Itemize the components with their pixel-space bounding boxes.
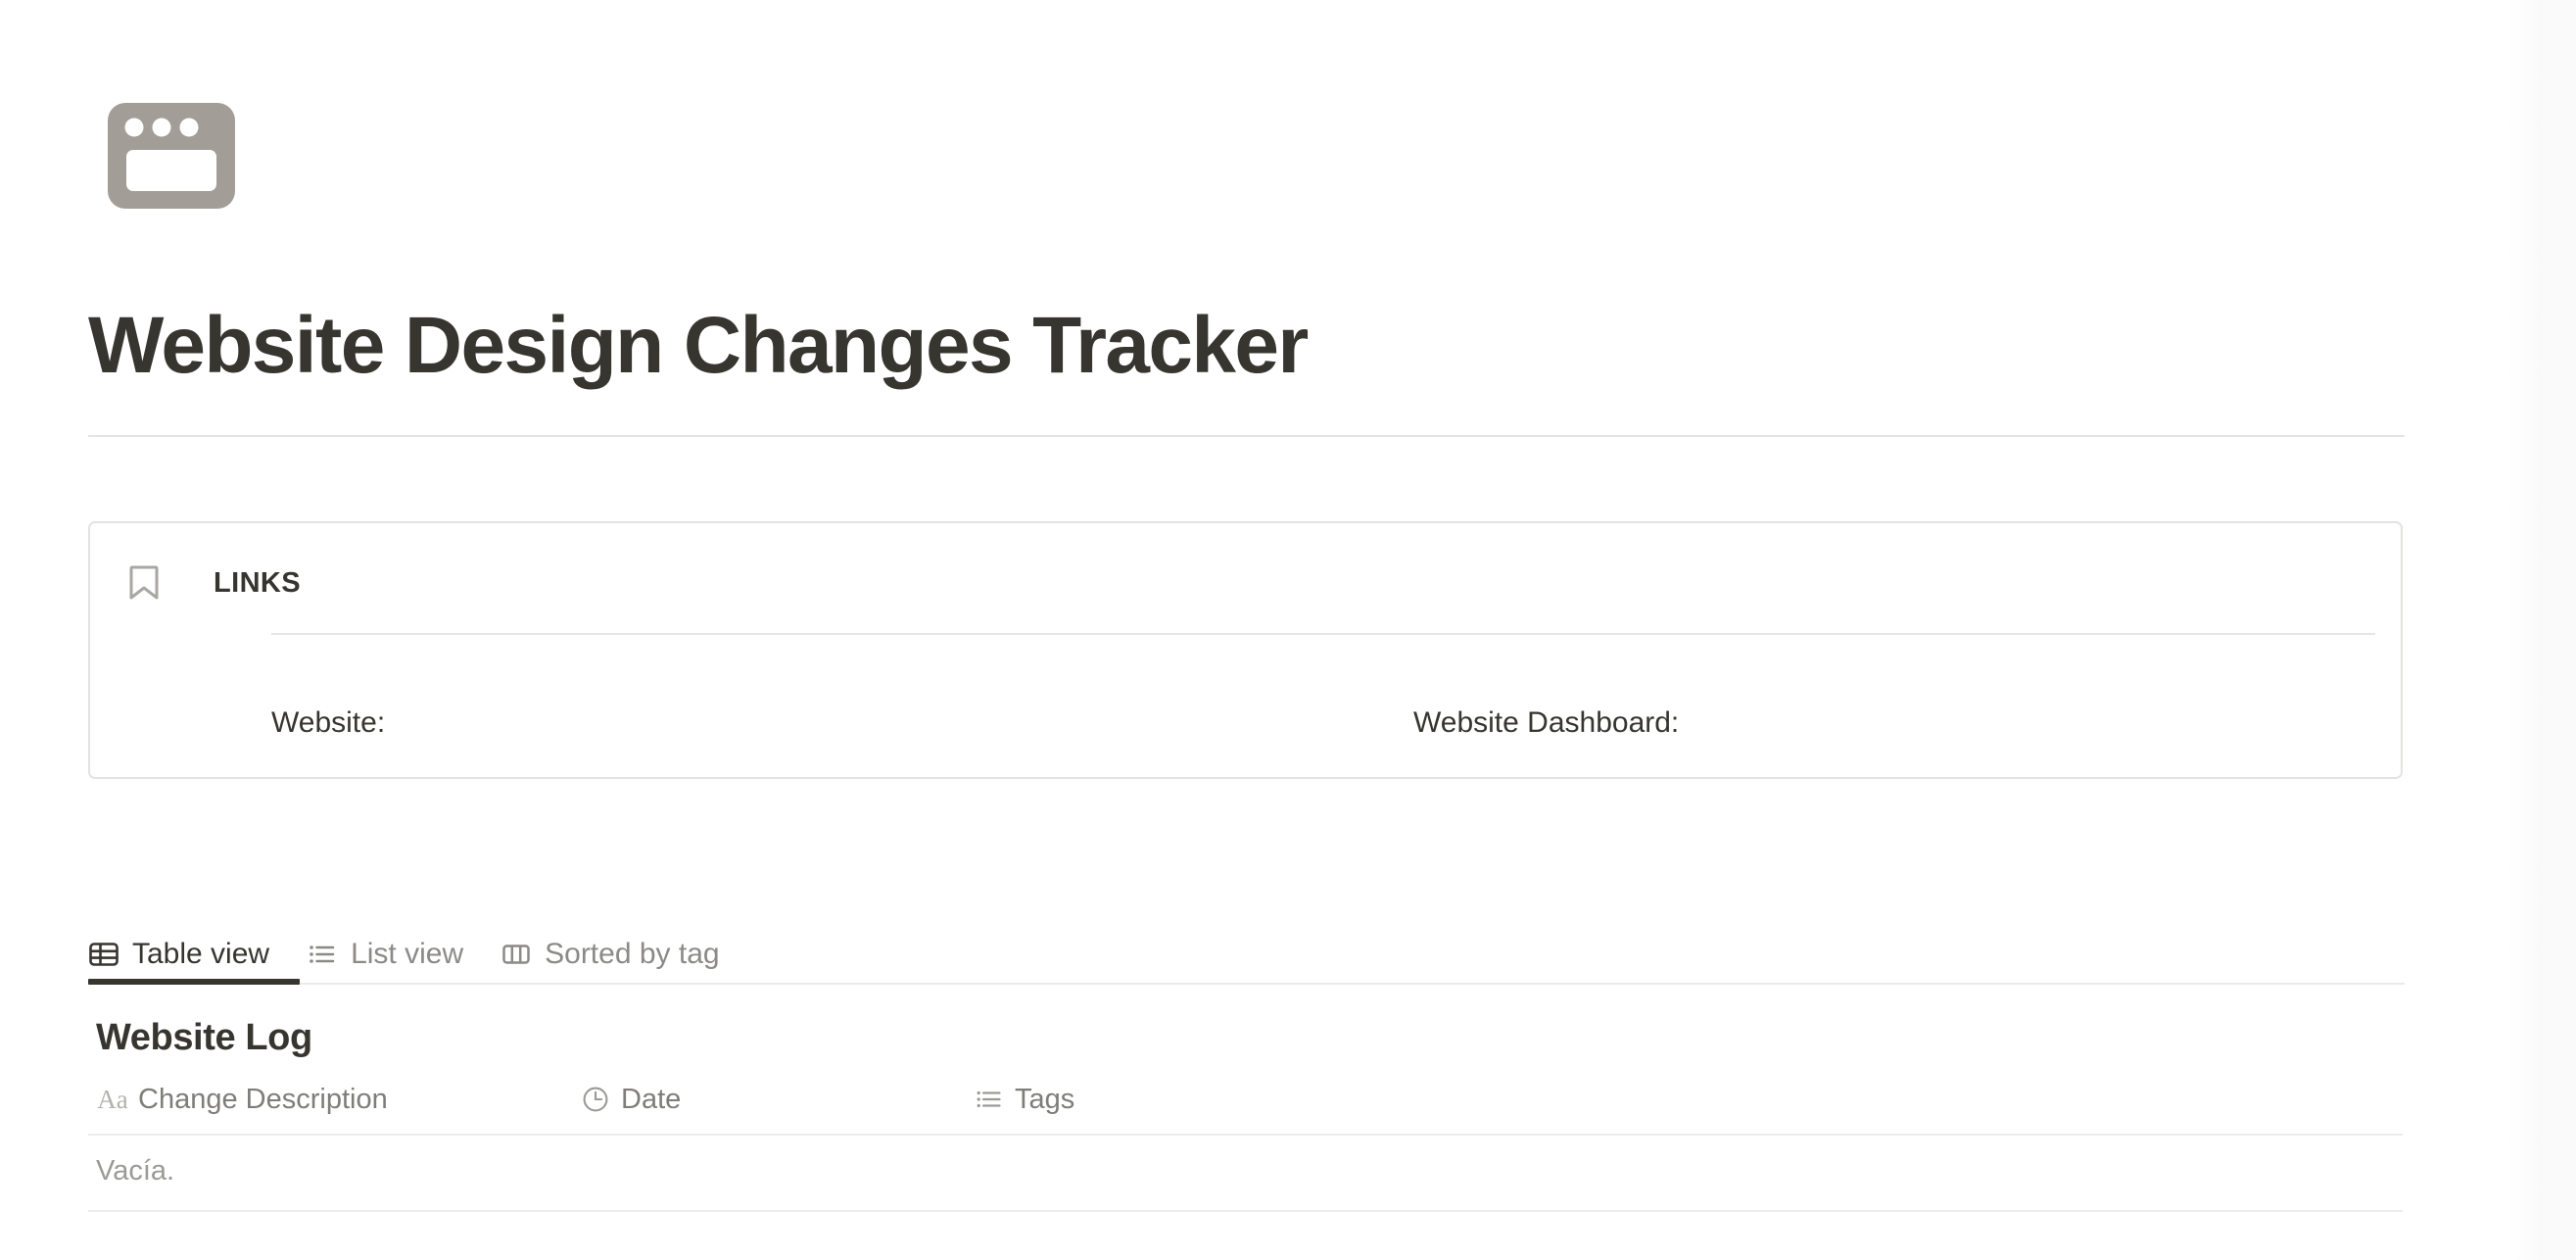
board-columns-icon [501, 939, 532, 970]
table-grid-icon [88, 939, 119, 970]
tab-label-list-view: List view [351, 940, 463, 969]
list-icon [307, 939, 338, 970]
website-field-label[interactable]: Website: [271, 702, 385, 745]
callout-header: LINKS [119, 564, 301, 602]
tab-label-sorted-by-tag: Sorted by tag [545, 940, 719, 969]
tab-table-view[interactable]: Table view [88, 933, 287, 976]
column-header-change-description[interactable]: Aa Change Description [98, 1078, 388, 1121]
tab-list-view[interactable]: List view [307, 933, 481, 976]
callout-divider [271, 633, 2375, 635]
clock-icon [581, 1085, 610, 1114]
database-title[interactable]: Website Log [96, 1017, 312, 1059]
page-right-edge-shade [2507, 0, 2576, 1260]
database-header-rule [88, 1134, 2403, 1136]
tabs-active-underline [88, 979, 300, 985]
view-tabs: Table view List view [88, 933, 2405, 984]
column-header-date[interactable]: Date [581, 1078, 681, 1121]
tab-label-table-view: Table view [132, 940, 269, 969]
column-label-change-description: Change Description [138, 1084, 388, 1116]
callout-label: LINKS [214, 567, 301, 600]
column-label-tags: Tags [1015, 1084, 1074, 1116]
bookmark-icon [127, 564, 161, 602]
website-dashboard-field-label[interactable]: Website Dashboard: [1413, 702, 1679, 745]
page-icon-container[interactable] [108, 103, 235, 209]
database-header-row: Aa Change Description Date [88, 1078, 2403, 1134]
links-callout: LINKS Website: Website Dashboard: [88, 521, 2403, 779]
tab-sorted-by-tag[interactable]: Sorted by tag [501, 933, 737, 976]
database-empty-message: Vacía. [96, 1155, 174, 1187]
text-aa-icon: Aa [98, 1085, 127, 1114]
column-label-date: Date [621, 1084, 681, 1116]
browser-window-icon[interactable] [108, 103, 235, 209]
page-title[interactable]: Website Design Changes Tracker [88, 304, 1308, 388]
tabs-baseline [88, 983, 2405, 985]
database-footer-rule [88, 1210, 2403, 1212]
title-divider [88, 435, 2405, 437]
callout-fields-row: Website: Website Dashboard: [271, 702, 2375, 751]
column-header-tags[interactable]: Tags [975, 1078, 1074, 1121]
notion-page: Website Design Changes Tracker LINKS Web… [0, 0, 2576, 1260]
multi-select-list-icon [975, 1085, 1004, 1114]
